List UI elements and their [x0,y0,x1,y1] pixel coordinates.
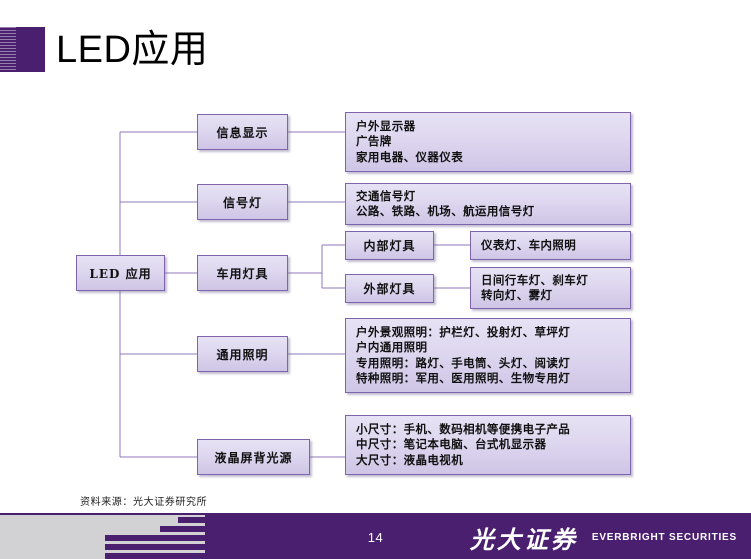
detail-line: 户外景观照明：护栏灯、投射灯、草坪灯 [356,325,620,341]
detail-information-display[interactable]: 户外显示器 广告牌 家用电器、仪器仪表 [345,112,631,172]
slide-footer: 14 光大证券 EVERBRIGHT SECURITIES [0,515,751,559]
node-label: 车用灯具 [216,265,268,282]
detail-line: 中尺寸：笔记本电脑、台式机显示器 [356,437,620,453]
brand-name-en: EVERBRIGHT SECURITIES [592,532,737,543]
detail-exterior-lighting[interactable]: 日间行车灯、刹车灯 转向灯、雾灯 [470,267,631,309]
node-label: 通用照明 [216,346,268,363]
node-label: LED 应用 [89,265,151,282]
node-label: 信息显示 [216,124,268,141]
detail-line: 交通信号灯 [356,189,620,205]
detail-line: 公路、铁路、机场、航运用信号灯 [356,204,620,220]
detail-general-lighting[interactable]: 户外景观照明：护栏灯、投射灯、草坪灯 户内通用照明 专用照明：路灯、手电筒、头灯… [345,318,631,393]
brand-name-cn: 光大证券 [470,520,578,555]
node-root-led-application[interactable]: LED 应用 [76,255,165,291]
detail-line: 专用照明：路灯、手电筒、头灯、阅读灯 [356,356,620,372]
detail-line: 广告牌 [356,134,620,150]
node-label: 内部灯具 [363,237,415,254]
node-lcd-backlight[interactable]: 液晶屏背光源 [197,439,310,475]
source-note: 资料来源：光大证券研究所 [80,493,207,508]
node-label: 外部灯具 [363,280,415,297]
node-interior-lighting[interactable]: 内部灯具 [345,231,434,260]
detail-line: 户内通用照明 [356,340,620,356]
detail-line: 转向灯、雾灯 [481,288,620,304]
detail-signal-lamp[interactable]: 交通信号灯 公路、铁路、机场、航运用信号灯 [345,183,631,225]
brand-logo: 光大证券 EVERBRIGHT SECURITIES [470,515,737,559]
detail-line: 日间行车灯、刹车灯 [481,273,620,289]
detail-interior-lighting[interactable]: 仪表灯、车内照明 [470,231,631,260]
detail-line: 家用电器、仪器仪表 [356,150,620,166]
detail-line: 大尺寸：液晶电视机 [356,453,620,469]
node-automotive-lighting[interactable]: 车用灯具 [197,255,288,291]
detail-line: 小尺寸：手机、数码相机等便携电子产品 [356,422,620,438]
node-label: 液晶屏背光源 [214,449,292,466]
node-label: 信号灯 [223,194,262,211]
node-information-display[interactable]: 信息显示 [197,114,288,150]
led-application-tree-diagram: LED 应用 信息显示 户外显示器 广告牌 家用电器、仪器仪表 信号灯 交通信号… [0,0,751,500]
node-general-lighting[interactable]: 通用照明 [197,336,288,372]
detail-lcd-backlight[interactable]: 小尺寸：手机、数码相机等便携电子产品 中尺寸：笔记本电脑、台式机显示器 大尺寸：… [345,415,631,475]
detail-line: 特种照明：军用、医用照明、生物专用灯 [356,371,620,387]
detail-line: 仪表灯、车内照明 [481,238,620,254]
detail-line: 户外显示器 [356,119,620,135]
node-exterior-lighting[interactable]: 外部灯具 [345,274,434,303]
node-signal-lamp[interactable]: 信号灯 [197,184,288,220]
